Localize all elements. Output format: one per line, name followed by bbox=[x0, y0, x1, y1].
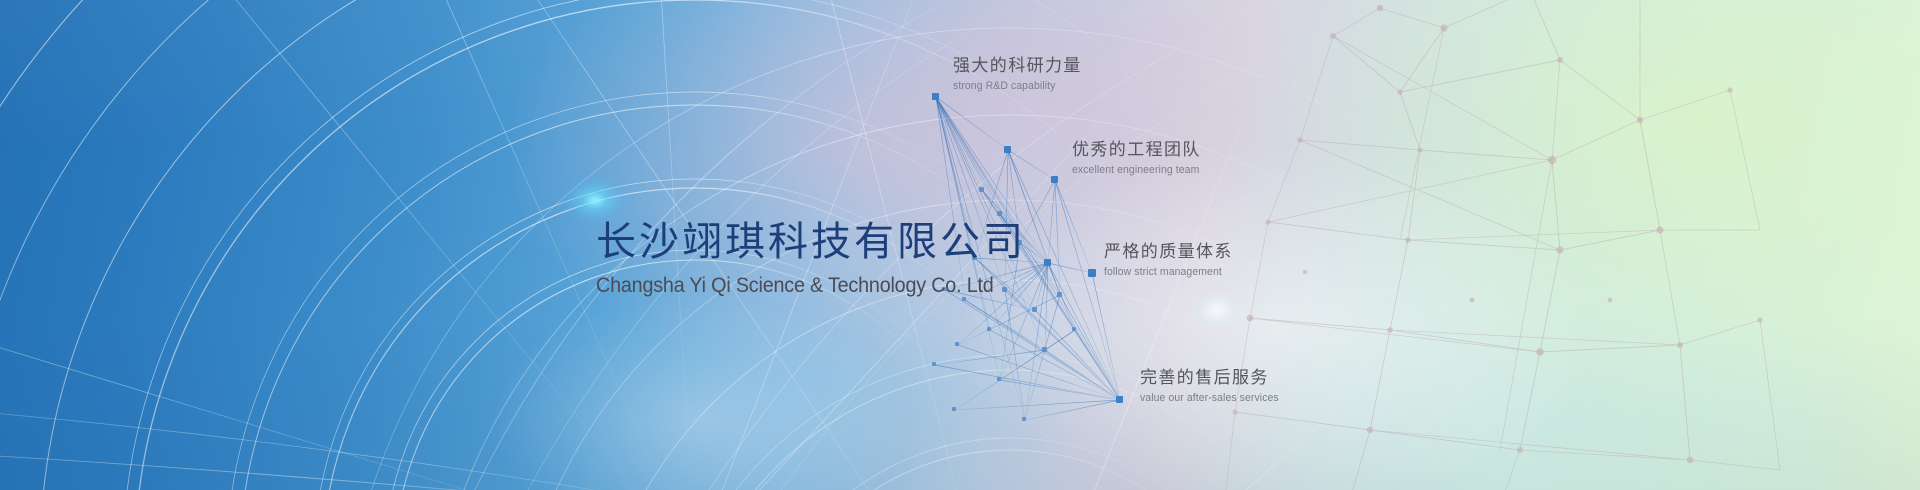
feature-label-en: strong R&D capability bbox=[953, 81, 1075, 92]
hero-banner: 长沙翊琪科技有限公司 Changsha Yi Qi Science & Tech… bbox=[0, 0, 1920, 490]
company-name-en: Changsha Yi Qi Science & Technology Co. … bbox=[596, 275, 1000, 296]
feature-label-cn: 完善的售后服务 bbox=[1140, 369, 1286, 386]
feature-item-team: 优秀的工程团队 excellent engineering team bbox=[1072, 141, 1206, 176]
feature-label-cn: 强大的科研力量 bbox=[953, 57, 1082, 74]
white-glow-accent bbox=[1190, 290, 1244, 330]
company-name-cn: 长沙翊琪科技有限公司 bbox=[596, 222, 1026, 262]
feature-label-cn: 严格的质量体系 bbox=[1104, 243, 1233, 260]
brand-block: 长沙翊琪科技有限公司 Changsha Yi Qi Science & Tech… bbox=[596, 222, 1026, 296]
feature-item-rnd: 强大的科研力量 strong R&D capability bbox=[953, 57, 1082, 92]
feature-item-quality: 严格的质量体系 follow strict management bbox=[1104, 243, 1233, 278]
feature-label-en: excellent engineering team bbox=[1072, 165, 1199, 176]
feature-label-en: follow strict management bbox=[1104, 267, 1226, 278]
feature-item-service: 完善的售后服务 value our after-sales services bbox=[1140, 369, 1286, 404]
feature-label-en: value our after-sales services bbox=[1140, 393, 1279, 404]
feature-label-cn: 优秀的工程团队 bbox=[1072, 141, 1206, 158]
